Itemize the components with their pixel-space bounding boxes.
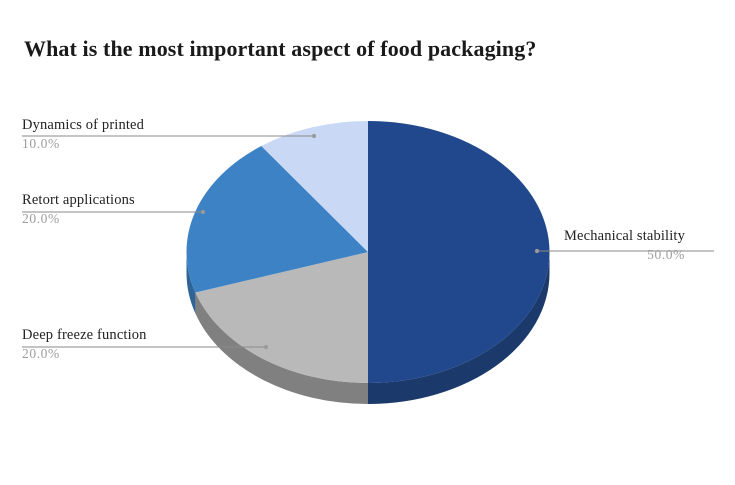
leader-dot-retort-applications — [201, 210, 205, 214]
leader-dot-deep-freeze-function — [264, 345, 268, 349]
slice-label-dynamics-of-printed: Dynamics of printed 10.0% — [22, 117, 144, 152]
slice-percent-text: 20.0% — [22, 345, 147, 362]
slice-percent-text: 20.0% — [22, 210, 135, 227]
leader-dot-dynamics-of-printed — [312, 134, 316, 138]
pie-chart-figure: What is the most important aspect of foo… — [0, 0, 735, 485]
slice-mechanical-stability[interactable] — [368, 121, 550, 383]
slice-label-text: Deep freeze function — [22, 327, 147, 344]
slice-percent-text: 50.0% — [564, 246, 685, 263]
leader-dot-mechanical-stability — [535, 249, 539, 253]
slice-label-text: Mechanical stability — [564, 228, 685, 245]
slice-label-deep-freeze-function: Deep freeze function 20.0% — [22, 327, 147, 362]
slice-label-mechanical-stability: Mechanical stability 50.0% — [564, 228, 685, 263]
slice-percent-text: 10.0% — [22, 135, 144, 152]
slice-label-text: Retort applications — [22, 192, 135, 209]
slice-label-text: Dynamics of printed — [22, 117, 144, 134]
slice-label-retort-applications: Retort applications 20.0% — [22, 192, 135, 227]
pie-top-faces — [186, 121, 549, 383]
